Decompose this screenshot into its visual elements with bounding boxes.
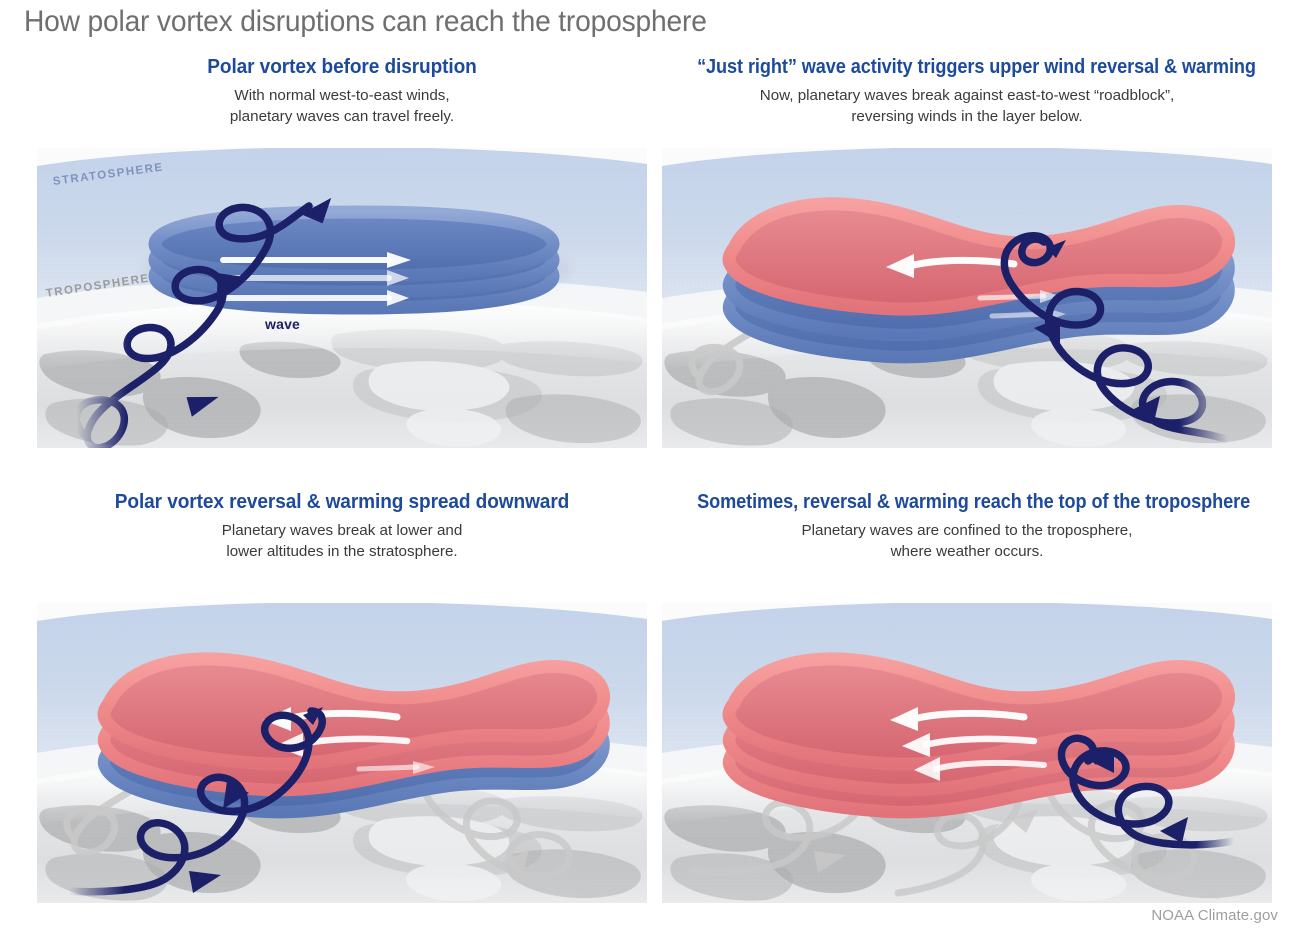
panel-1-subtitle-line-1: With normal west-to-east winds, [37, 85, 647, 106]
panel-2-illustration [662, 148, 1272, 448]
polar-vortex-rings-blue [142, 212, 572, 308]
panel-2-scene [662, 148, 1272, 448]
page-title: How polar vortex disruptions can reach t… [24, 2, 707, 42]
source-credit: NOAA Climate.gov [1151, 907, 1278, 924]
infographic-root: How polar vortex disruptions can reach t… [0, 0, 1300, 929]
panel-3-subtitle-line-1: Planetary waves break at lower and [37, 520, 647, 541]
panel-2-subtitle-line-1: Now, planetary waves break against east-… [662, 85, 1272, 106]
panel-2-subtitle-line-2: reversing winds in the layer below. [662, 106, 1272, 127]
panel-2-figure [662, 148, 1272, 448]
panel-1-illustration [37, 148, 647, 448]
panel-4-subtitle: Planetary waves are confined to the trop… [662, 520, 1272, 562]
panel-3-illustration [37, 603, 647, 903]
panel-3-subtitle-line-2: lower altitudes in the stratosphere. [37, 541, 647, 562]
panel-4-title: Sometimes, reversal & warming reach the … [697, 489, 1237, 515]
vortex-ring-1 [155, 212, 553, 276]
panel-3-header: Polar vortex reversal & warming spread d… [37, 489, 647, 562]
panel-4-figure [662, 603, 1272, 903]
panel-1-subtitle-line-2: planetary waves can travel freely. [37, 106, 647, 127]
panel-2-subtitle: Now, planetary waves break against east-… [662, 85, 1272, 127]
panel-4-header: Sometimes, reversal & warming reach the … [662, 489, 1272, 562]
panel-3-title: Polar vortex reversal & warming spread d… [58, 489, 625, 515]
panel-3-subtitle: Planetary waves break at lower and lower… [37, 520, 647, 562]
panel-4-subtitle-line-2: where weather occurs. [662, 541, 1272, 562]
panel-2-title: “Just right” wave activity triggers uppe… [697, 54, 1237, 80]
wave-label: wave [265, 316, 300, 332]
panel-1-subtitle: With normal west-to-east winds, planetar… [37, 85, 647, 127]
panel-1-title: Polar vortex before disruption [58, 54, 625, 80]
panel-4-illustration [662, 603, 1272, 903]
panel-3-figure [37, 603, 647, 903]
panel-1-scene: STRATOSPHERE TROPOSPHERE wave [37, 148, 647, 448]
panel-1-header: Polar vortex before disruption With norm… [37, 54, 647, 127]
panel-1-figure: STRATOSPHERE TROPOSPHERE wave [37, 148, 647, 448]
panel-4-scene [662, 603, 1272, 903]
panel-3-scene [37, 603, 647, 903]
panel-2-header: “Just right” wave activity triggers uppe… [662, 54, 1272, 127]
panel-4-subtitle-line-1: Planetary waves are confined to the trop… [662, 520, 1272, 541]
